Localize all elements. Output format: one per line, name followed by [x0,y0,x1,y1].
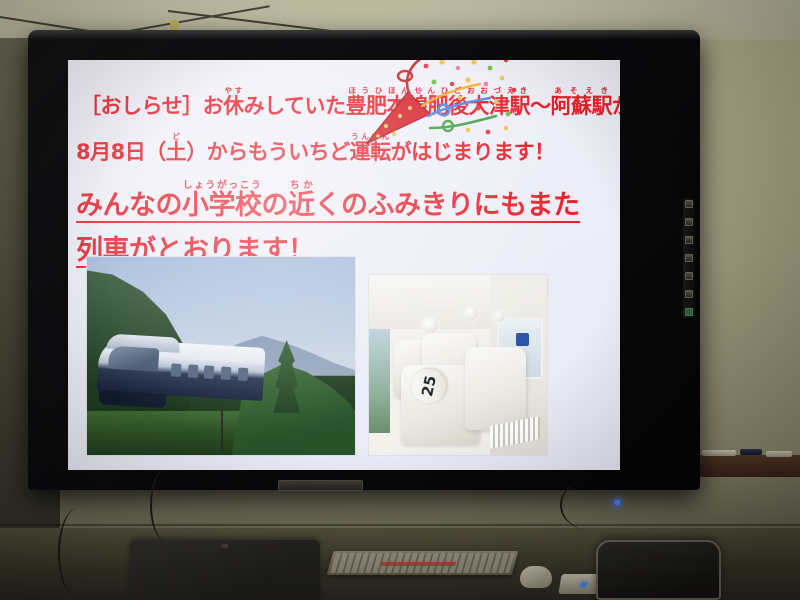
shelf-item-3 [766,451,792,457]
train-window-5 [237,367,248,381]
line1-seg-a: ［おしらせ］お [80,94,223,118]
line1-kanji-yasumi: 休 [223,94,244,118]
line1-seg-c: みしていた [244,94,346,118]
wooden-shelf [690,455,800,477]
train-windshield [108,346,159,372]
bezel-button-2[interactable] [685,218,693,226]
keyboard[interactable] [327,551,519,575]
slide-photos: 25 [68,256,620,468]
monitor-screen[interactable]: ［おしらせ］お休やすみしていた豊肥本線肥後大津駅ほうひほんせんひごおおづえき〜阿… [68,60,620,470]
monitor-brand-plate [278,480,363,491]
laptop-camera-icon [222,544,229,548]
line3-seg-e: くのふみきりにもまた [315,190,580,221]
ruby-asoeki: 阿蘇駅あそえき [550,94,612,118]
ruby-shougakkou: 小学校しょうがっこう [182,190,262,221]
photo-catenary-pole [221,408,223,452]
floor-edge [0,524,800,526]
furigana-do: ど [166,132,187,141]
right-wall [690,40,800,460]
interior-seat-right [465,347,526,430]
slide-line-1: ［おしらせ］お休やすみしていた豊肥本線肥後大津駅ほうひほんせんひごおおづえき〜阿… [80,86,614,117]
line1-seg-tilde: 〜 [530,94,551,118]
room-scene: ［おしらせ］お休やすみしていた豊肥本線肥後大津駅ほうひほんせんひごおおづえき〜阿… [0,0,800,600]
train-window-2 [187,364,198,378]
monitor-top-bezel [28,30,700,62]
furigana-asoeki: あそえき [550,86,612,95]
train-window-4 [220,366,231,380]
line3-kanji-chika: 近 [288,190,315,221]
mouse[interactable] [520,566,552,588]
line1-kanji-asoeki: 阿蘇駅 [550,94,612,118]
train-window-1 [171,363,182,377]
furigana-chika: ちか [288,180,315,191]
train-vehicle [96,333,266,410]
bezel-button-4[interactable] [685,254,693,262]
shelf-item-2 [740,449,762,455]
office-chair[interactable] [596,540,721,600]
interior-lamp-1 [422,318,438,334]
line2-kanji-do: 土 [166,140,187,164]
presentation-slide: ［おしらせ］お休やすみしていた豊肥本線肥後大津駅ほうひほんせんひごおおづえき〜阿… [68,60,620,470]
display-monitor[interactable]: ［おしらせ］お休やすみしていた豊肥本線肥後大津駅ほうひほんせんひごおおづえき〜阿… [28,30,700,490]
train-window-3 [204,365,215,379]
bezel-button-3[interactable] [685,236,693,244]
furigana-shougakkou: しょうがっこう [182,180,261,191]
laptop[interactable] [130,540,320,600]
photo-train-exterior [86,256,356,456]
interior-lamp-3 [494,311,505,322]
ruby-do: 土ど [166,140,187,164]
photo-train-interior: 25 [368,274,548,456]
slide-line-2: 8月8日（土ど）からもういちど運転うんてんがはじまります！ [76,132,614,163]
ruby-yasu: 休やす [223,94,244,118]
keyboard-accent-strip [381,562,456,566]
party-popper-icon [356,60,526,152]
line2-seg-c: ）からもういちど [186,140,349,164]
power-strip-led-icon [580,582,587,587]
shelf-item-1 [702,450,736,456]
line1-seg-ga: が [612,94,620,118]
line2-seg-date: 8月8日（ [76,140,166,164]
monitor-control-buttons[interactable] [683,198,695,318]
interior-left-window [369,329,390,433]
line3-kanji-shougakkou: 小学校 [182,190,262,221]
floor-cable-1 [58,508,98,598]
bezel-status-led [685,308,693,316]
floor-cable-3 [560,480,620,530]
slide-line-3: みんなの小学校しょうがっこうの近ちかくのふみきりにもまた [76,180,580,223]
bezel-button-6[interactable] [685,290,693,298]
floor-cable-2 [150,470,180,540]
line3-seg-a: みんなの [76,190,182,221]
priority-seat-sign-icon [516,333,529,346]
bezel-button-1[interactable] [685,200,693,208]
line3-seg-no: の [262,190,289,221]
furigana-yasu: やす [223,86,244,95]
ruby-chika: 近ちか [288,190,315,221]
bezel-button-5[interactable] [685,272,693,280]
